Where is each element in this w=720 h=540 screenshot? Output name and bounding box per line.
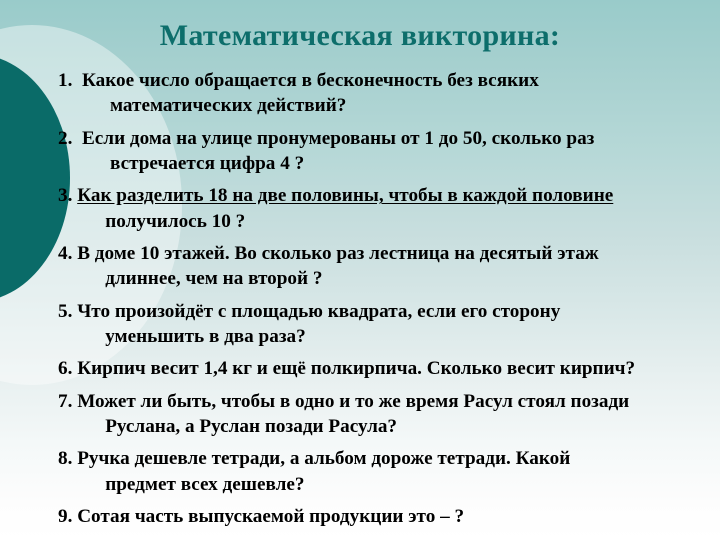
quiz-item: 9. Сотая часть выпускаемой продукции это… xyxy=(58,504,706,529)
quiz-item: 7. Может ли быть, чтобы в одно и то же в… xyxy=(58,389,706,440)
quiz-item-line-2: математических действий? xyxy=(82,93,706,118)
quiz-item-number: 4. xyxy=(58,241,77,266)
quiz-item: 8. Ручка дешевле тетради, а альбом дорож… xyxy=(58,446,706,497)
quiz-item-text: Сотая часть выпускаемой продукции это – … xyxy=(77,504,706,529)
quiz-item-text: Ручка дешевле тетради, а альбом дороже т… xyxy=(77,446,706,497)
quiz-item: 3. Как разделить 18 на две половины, что… xyxy=(58,183,706,234)
quiz-item-line-2: встречается цифра 4 ? xyxy=(82,151,706,176)
quiz-item-line-2: длиннее, чем на второй ? xyxy=(77,266,706,291)
quiz-item-text: Если дома на улице пронумерованы от 1 до… xyxy=(82,126,706,177)
slide-canvas: Математическая викторина: 1. Какое число… xyxy=(0,0,720,540)
quiz-item-line-1: В доме 10 этажей. Во сколько раз лестниц… xyxy=(77,243,599,264)
quiz-item: 1. Какое число обращается в бесконечност… xyxy=(58,68,706,119)
quiz-item-text: В доме 10 этажей. Во сколько раз лестниц… xyxy=(77,241,706,292)
quiz-item-text: Может ли быть, чтобы в одно и то же врем… xyxy=(77,389,706,440)
quiz-item-line-1: Какое число обращается в бесконечность б… xyxy=(82,70,539,91)
quiz-item: 5. Что произойдёт с площадью квадрата, е… xyxy=(58,299,706,350)
quiz-item-line-1: Что произойдёт с площадью квадрата, если… xyxy=(77,301,560,322)
quiz-item: 2. Если дома на улице пронумерованы от 1… xyxy=(58,126,706,177)
quiz-item-line-2: предмет всех дешевле? xyxy=(77,472,706,497)
quiz-item-number: 3. xyxy=(58,183,77,208)
quiz-item-line-2: Руслана, а Руслан позади Расула? xyxy=(77,414,706,439)
quiz-item: 6. Кирпич весит 1,4 кг и ещё полкирпича.… xyxy=(58,356,706,381)
quiz-item-number: 9. xyxy=(58,504,77,529)
quiz-item-line-1: Если дома на улице пронумерованы от 1 до… xyxy=(82,128,594,149)
quiz-item-number: 6. xyxy=(58,356,77,381)
quiz-item-line-1: Ручка дешевле тетради, а альбом дороже т… xyxy=(77,448,570,469)
quiz-item-number: 1. xyxy=(58,68,82,93)
quiz-item-number: 8. xyxy=(58,446,77,471)
quiz-item: 4. В доме 10 этажей. Во сколько раз лест… xyxy=(58,241,706,292)
quiz-item-line-2: получилось 10 ? xyxy=(77,209,706,234)
quiz-item-line-1: Как разделить 18 на две половины, чтобы … xyxy=(77,185,613,206)
quiz-item-text: Как разделить 18 на две половины, чтобы … xyxy=(77,183,706,234)
quiz-item-text: Что произойдёт с площадью квадрата, если… xyxy=(77,299,706,350)
quiz-item-text: Какое число обращается в бесконечность б… xyxy=(82,68,706,119)
quiz-item-line-1: Кирпич весит 1,4 кг и ещё полкирпича. Ск… xyxy=(77,358,635,379)
quiz-item-line-2: уменьшить в два раза? xyxy=(77,324,706,349)
quiz-item-text: Кирпич весит 1,4 кг и ещё полкирпича. Ск… xyxy=(77,356,706,381)
quiz-item-number: 5. xyxy=(58,299,77,324)
quiz-item-number: 7. xyxy=(58,389,77,414)
quiz-question-list: 1. Какое число обращается в бесконечност… xyxy=(58,68,706,537)
quiz-item-line-1: Сотая часть выпускаемой продукции это – … xyxy=(77,506,464,527)
quiz-item-number: 2. xyxy=(58,126,82,151)
quiz-item-line-1: Может ли быть, чтобы в одно и то же врем… xyxy=(77,391,629,412)
slide-title: Математическая викторина: xyxy=(0,19,720,52)
